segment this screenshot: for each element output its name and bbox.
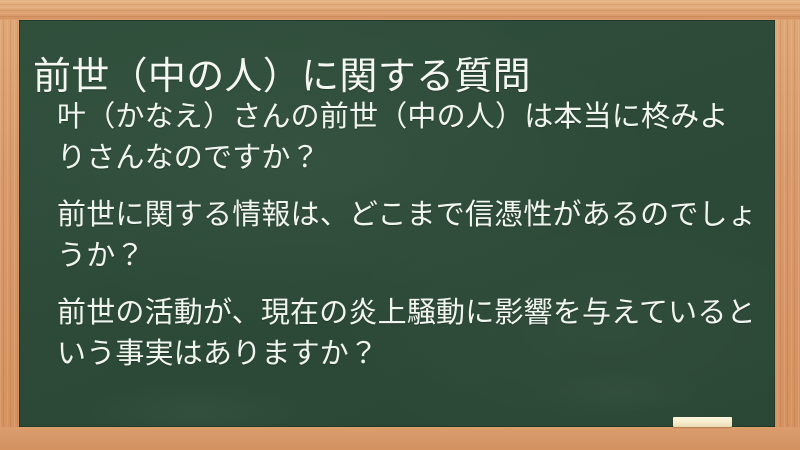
chalkboard-surface: 前世（中の人）に関する質問 叶（かなえ）さんの前世（中の人）は本当に柊みよりさん… (19, 20, 775, 427)
page-title: 前世（中の人）に関する質問 (33, 53, 761, 99)
slide-content: 前世（中の人）に関する質問 叶（かなえ）さんの前世（中の人）は本当に柊みよりさん… (19, 20, 775, 427)
wooden-frame-top-rail (0, 0, 800, 20)
wooden-frame-bottom-ledge (0, 427, 800, 450)
question-list: 叶（かなえ）さんの前世（中の人）は本当に柊みよりさんなのですか？ 前世に関する情… (57, 96, 757, 374)
list-item: 前世に関する情報は、どこまで信憑性があるのでしょうか？ (57, 194, 757, 276)
chalkboard-slide: 前世（中の人）に関する質問 叶（かなえ）さんの前世（中の人）は本当に柊みよりさん… (0, 0, 800, 450)
chalk-stick-icon (673, 417, 732, 427)
list-item: 前世の活動が、現在の炎上騒動に影響を与えているという事実はありますか？ (57, 292, 757, 374)
list-item: 叶（かなえ）さんの前世（中の人）は本当に柊みよりさんなのですか？ (57, 96, 757, 178)
